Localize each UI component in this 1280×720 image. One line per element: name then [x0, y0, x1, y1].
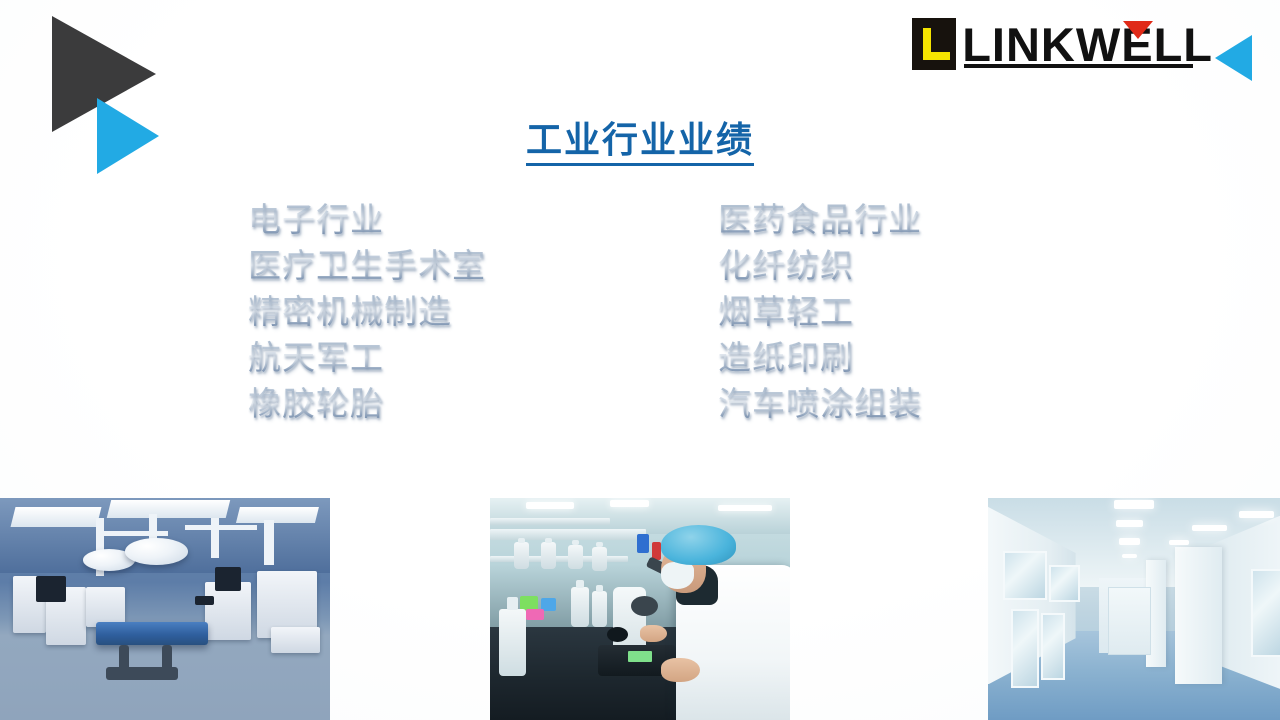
list-item: 造纸印刷 — [718, 336, 1028, 382]
red-triangle-icon — [1123, 21, 1153, 39]
list-item: 汽车喷涂组装 — [718, 382, 1028, 428]
industry-lists: 电子行业 医疗卫生手术室 精密机械制造 航天军工 橡胶轮胎 医药食品行业 化纤纺… — [248, 198, 1028, 428]
slide-root: LINKWELL 工业行业业绩 电子行业 医疗卫生手术室 精密机械制造 航天军工… — [0, 0, 1280, 720]
list-item: 医药食品行业 — [718, 198, 1028, 244]
industry-list-right: 医药食品行业 化纤纺织 烟草轻工 造纸印刷 汽车喷涂组装 — [718, 198, 1028, 428]
list-item: 烟草轻工 — [718, 290, 1028, 336]
industry-list-left: 电子行业 医疗卫生手术室 精密机械制造 航天军工 橡胶轮胎 — [248, 198, 718, 428]
list-item: 航天军工 — [248, 336, 718, 382]
list-item: 化纤纺织 — [718, 244, 1028, 290]
photo-strip — [0, 498, 1280, 720]
brand-blue-triangle-icon — [1215, 35, 1252, 81]
linkwell-l-mark-icon — [912, 18, 956, 70]
operating-room-photo — [0, 498, 330, 720]
cleanroom-corridor-photo — [988, 498, 1280, 720]
list-item: 电子行业 — [248, 198, 718, 244]
brand-wordmark: LINKWELL — [962, 20, 1213, 70]
list-item: 精密机械制造 — [248, 290, 718, 336]
brand-wordmark-wrap: LINKWELL — [962, 14, 1213, 70]
page-title-text: 工业行业业绩 — [526, 118, 754, 166]
page-title: 工业行业业绩 — [0, 118, 1280, 166]
laboratory-microscope-photo — [490, 498, 790, 720]
brand-logo: LINKWELL — [912, 14, 1252, 80]
list-item: 医疗卫生手术室 — [248, 244, 718, 290]
brand-underline — [964, 64, 1193, 68]
list-item: 橡胶轮胎 — [248, 382, 718, 428]
